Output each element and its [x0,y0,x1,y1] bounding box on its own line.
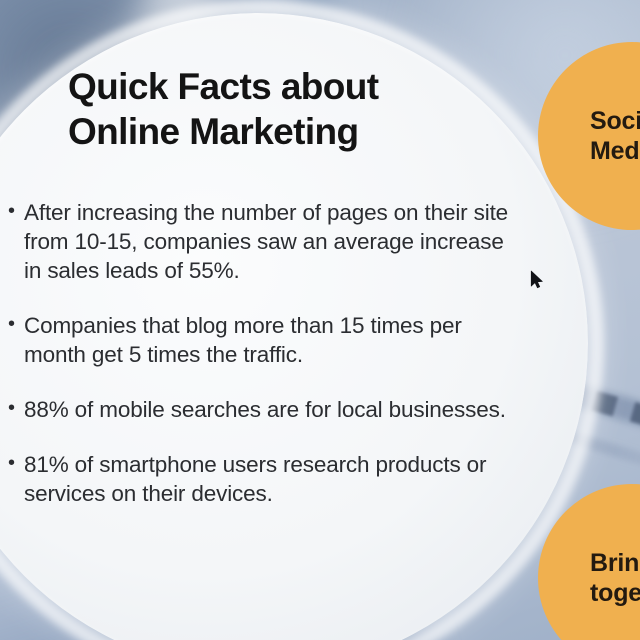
bullet-point-icon: • [8,395,24,422]
bullet-point-icon: • [8,311,24,338]
callout-line-2: Med [590,137,639,165]
presentation-slide: Socia Med Bringin togeth Quick Facts abo… [0,0,640,640]
list-item-text: After increasing the number of pages on … [24,198,513,285]
callout-label-bringing-it-together: Bringin togeth [538,548,640,609]
slide-title-line-2: Online Marketing [68,109,498,154]
callout-line-1: Socia [590,107,640,135]
list-item: • 88% of mobile searches are for local b… [8,395,513,424]
callout-label-social-media: Socia Med [538,106,640,167]
fact-list: • After increasing the number of pages o… [8,198,513,534]
callout-line-2: togeth [590,579,640,607]
list-item: • 81% of smartphone users research produ… [8,450,513,508]
bullet-point-icon: • [8,198,24,225]
bullet-point-icon: • [8,450,24,477]
list-item: • Companies that blog more than 15 times… [8,311,513,369]
slide-title-line-1: Quick Facts about [68,64,498,109]
list-item: • After increasing the number of pages o… [8,198,513,285]
list-item-text: Companies that blog more than 15 times p… [24,311,513,369]
slide-title: Quick Facts about Online Marketing [68,64,498,154]
callout-line-1: Bringin [590,549,640,577]
list-item-text: 81% of smartphone users research product… [24,450,513,508]
list-item-text: 88% of mobile searches are for local bus… [24,395,513,424]
